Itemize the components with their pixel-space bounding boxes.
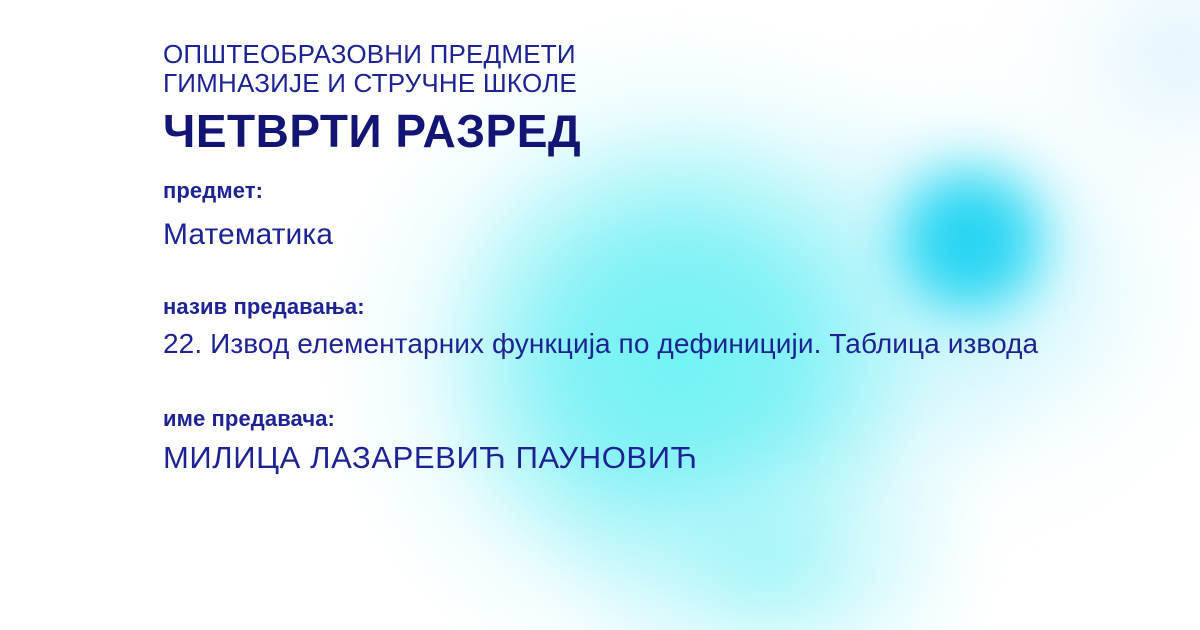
lecturer-label: име предавача: (163, 406, 1183, 432)
grade-title: ЧЕТВРТИ РАЗРЕД (163, 104, 1183, 158)
header-block: ОПШТЕОБРАЗОВНИ ПРЕДМЕТИ ГИМНАЗИЈЕ И СТРУ… (163, 0, 1183, 158)
lecture-label: назив предавања: (163, 294, 1183, 320)
field-group-subject: предмет: Математика (163, 178, 1183, 254)
eyebrow-line-2: ГИМНАЗИЈЕ И СТРУЧНЕ ШКОЛЕ (163, 68, 1183, 98)
lecture-title-card: ОПШТЕОБРАЗОВНИ ПРЕДМЕТИ ГИМНАЗИЈЕ И СТРУ… (0, 0, 1200, 630)
lecturer-value: МИЛИЦА ЛАЗАРЕВИЋ ПАУНОВИЋ (163, 438, 1183, 478)
subject-value: Математика (163, 216, 1183, 254)
lecture-value: 22. Извод елементарних функција по дефин… (163, 326, 1183, 362)
subject-label: предмет: (163, 178, 1183, 204)
field-group-lecturer: име предавача: МИЛИЦА ЛАЗАРЕВИЋ ПАУНОВИЋ (163, 406, 1183, 478)
content-column: ОПШТЕОБРАЗОВНИ ПРЕДМЕТИ ГИМНАЗИЈЕ И СТРУ… (163, 0, 1183, 478)
field-group-lecture: назив предавања: 22. Извод елементарних … (163, 294, 1183, 362)
eyebrow-line-1: ОПШТЕОБРАЗОВНИ ПРЕДМЕТИ (163, 0, 1183, 68)
